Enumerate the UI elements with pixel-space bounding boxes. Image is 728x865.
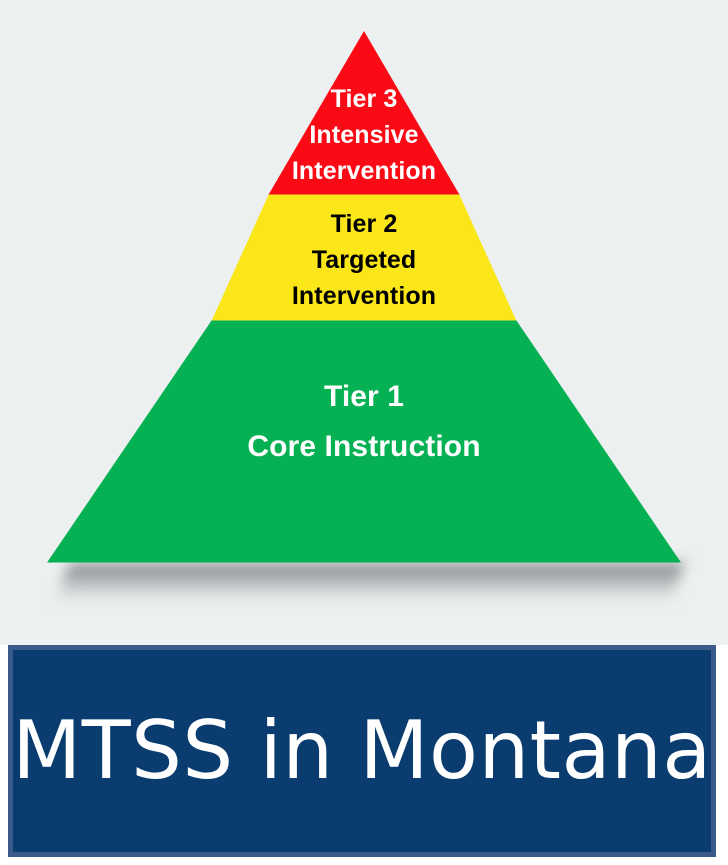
tier-1-subtitle-line1: Core Instruction <box>114 429 614 465</box>
tier-1-title: Tier 1 <box>114 379 614 415</box>
tier-3-subtitle-line2: Intervention <box>164 156 564 186</box>
diagram-panel: Tier 3 Intensive Intervention Tier 2 Tar… <box>0 0 728 645</box>
pyramid-tier-1-label: Tier 1 Core Instruction <box>114 379 614 465</box>
title-banner: MTSS in Montana <box>8 645 716 857</box>
page-title: MTSS in Montana <box>12 711 712 791</box>
slide-canvas: Tier 3 Intensive Intervention Tier 2 Tar… <box>0 0 728 865</box>
tier-2-title: Tier 2 <box>164 209 564 239</box>
pyramid-tier-3-label: Tier 3 Intensive Intervention <box>164 84 564 186</box>
tier-3-title: Tier 3 <box>164 84 564 114</box>
tier-3-subtitle-line1: Intensive <box>164 120 564 150</box>
pyramid-tier-2-label: Tier 2 Targeted Intervention <box>164 209 564 311</box>
tier-2-subtitle-line2: Intervention <box>164 281 564 311</box>
tier-2-subtitle-line1: Targeted <box>164 245 564 275</box>
